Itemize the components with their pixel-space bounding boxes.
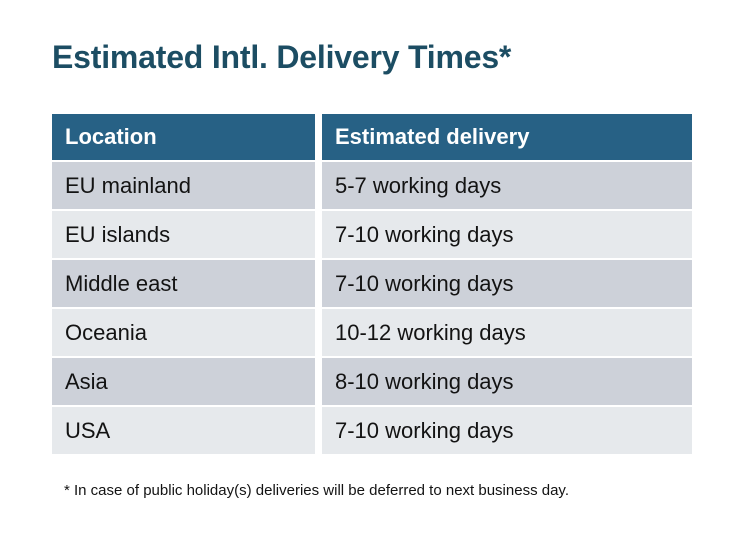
cell-estimated-delivery: 5-7 working days — [322, 162, 692, 209]
table-row: Oceania 10-12 working days — [52, 309, 692, 356]
table-row: EU mainland 5-7 working days — [52, 162, 692, 209]
cell-estimated-delivery: 8-10 working days — [322, 358, 692, 405]
delivery-times-page: Estimated Intl. Delivery Times* Location… — [0, 0, 745, 536]
table-row: EU islands 7-10 working days — [52, 211, 692, 258]
cell-location: EU mainland — [52, 162, 315, 209]
cell-estimated-delivery: 7-10 working days — [322, 211, 692, 258]
table-row: USA 7-10 working days — [52, 407, 692, 454]
column-header-location: Location — [52, 114, 315, 160]
delivery-times-table: Location Estimated delivery EU mainland … — [52, 114, 692, 454]
table-row: Asia 8-10 working days — [52, 358, 692, 405]
cell-location: Middle east — [52, 260, 315, 307]
cell-location: Oceania — [52, 309, 315, 356]
cell-location: EU islands — [52, 211, 315, 258]
cell-estimated-delivery: 7-10 working days — [322, 260, 692, 307]
cell-location: Asia — [52, 358, 315, 405]
footnote-text: * In case of public holiday(s) deliverie… — [64, 480, 569, 501]
page-title: Estimated Intl. Delivery Times* — [52, 38, 511, 76]
cell-estimated-delivery: 10-12 working days — [322, 309, 692, 356]
cell-estimated-delivery: 7-10 working days — [322, 407, 692, 454]
table-header-row: Location Estimated delivery — [52, 114, 692, 160]
cell-location: USA — [52, 407, 315, 454]
table-row: Middle east 7-10 working days — [52, 260, 692, 307]
column-header-estimated-delivery: Estimated delivery — [322, 114, 692, 160]
